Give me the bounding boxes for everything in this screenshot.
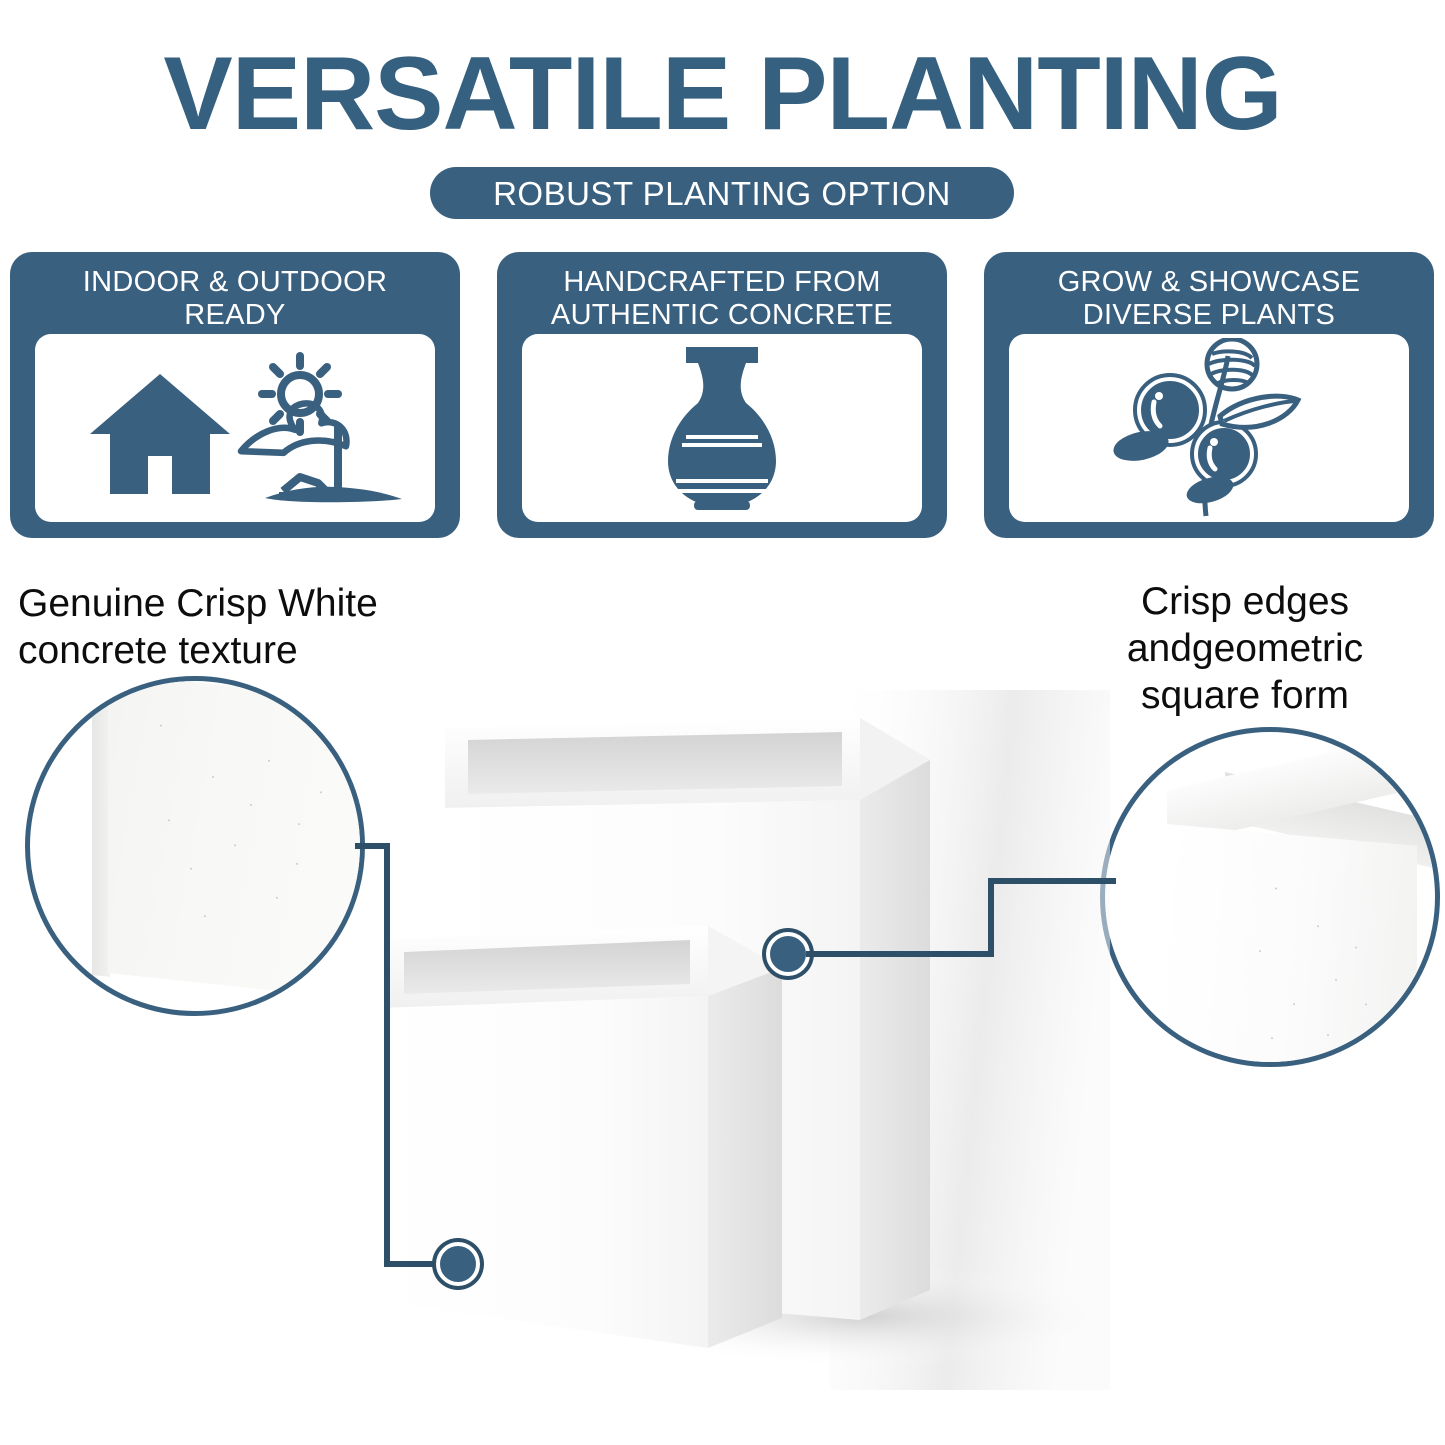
indoor-outdoor-icon-group xyxy=(50,346,420,511)
subtitle-badge: ROBUST PLANTING OPTION xyxy=(430,167,1014,219)
beach-umbrella-icon xyxy=(241,403,346,496)
page-title: VERSATILE PLANTING xyxy=(0,42,1445,146)
house-icon xyxy=(90,374,230,494)
feature-label: INDOOR & OUTDOOR READY xyxy=(10,266,460,332)
concrete-panel xyxy=(108,676,365,1002)
connector-right-h2 xyxy=(988,878,1116,884)
berry-branch-icon xyxy=(1102,338,1317,518)
feature-icon-panel xyxy=(1009,334,1409,522)
connector-left-v xyxy=(384,843,390,1267)
vase-icon xyxy=(642,341,802,516)
short-planter-front-face xyxy=(390,996,708,1348)
magnifier-concrete-texture xyxy=(25,676,365,1016)
berry-striped xyxy=(1207,339,1257,389)
planter-front-face xyxy=(1167,824,1417,1067)
hotspot-dot-right[interactable] xyxy=(766,932,810,976)
feature-card-handcrafted-concrete: HANDCRAFTED FROM AUTHENTIC CONCRETE xyxy=(497,252,947,538)
feature-icon-panel xyxy=(522,334,922,522)
connector-right-v xyxy=(988,878,994,957)
tall-planter-side-face xyxy=(860,718,930,1320)
infographic-stage: VERSATILE PLANTING ROBUST PLANTING OPTIO… xyxy=(0,0,1445,1445)
leaf-right xyxy=(1220,396,1298,427)
feature-card-grow-showcase: GROW & SHOWCASE DIVERSE PLANTS xyxy=(984,252,1434,538)
subtitle-badge-label: ROBUST PLANTING OPTION xyxy=(493,177,951,210)
feature-label: HANDCRAFTED FROM AUTHENTIC CONCRETE xyxy=(497,266,947,332)
callout-label-left: Genuine Crisp White concrete texture xyxy=(18,580,438,674)
feature-label: GROW & SHOWCASE DIVERSE PLANTS xyxy=(984,266,1434,332)
short-rectangular-planter xyxy=(390,926,782,1348)
feature-card-indoor-outdoor: INDOOR & OUTDOOR READY xyxy=(10,252,460,538)
magnifier-crisp-edge xyxy=(1100,727,1440,1067)
callout-label-right: Crisp edges andgeometric square form xyxy=(1055,578,1435,719)
connector-right-h1 xyxy=(806,951,994,957)
berry-lower-right xyxy=(1192,422,1256,486)
hotspot-dot-left[interactable] xyxy=(436,1242,480,1286)
feature-icon-panel xyxy=(35,334,435,522)
tall-planter-cavity xyxy=(468,732,842,794)
product-photo xyxy=(390,690,1110,1390)
